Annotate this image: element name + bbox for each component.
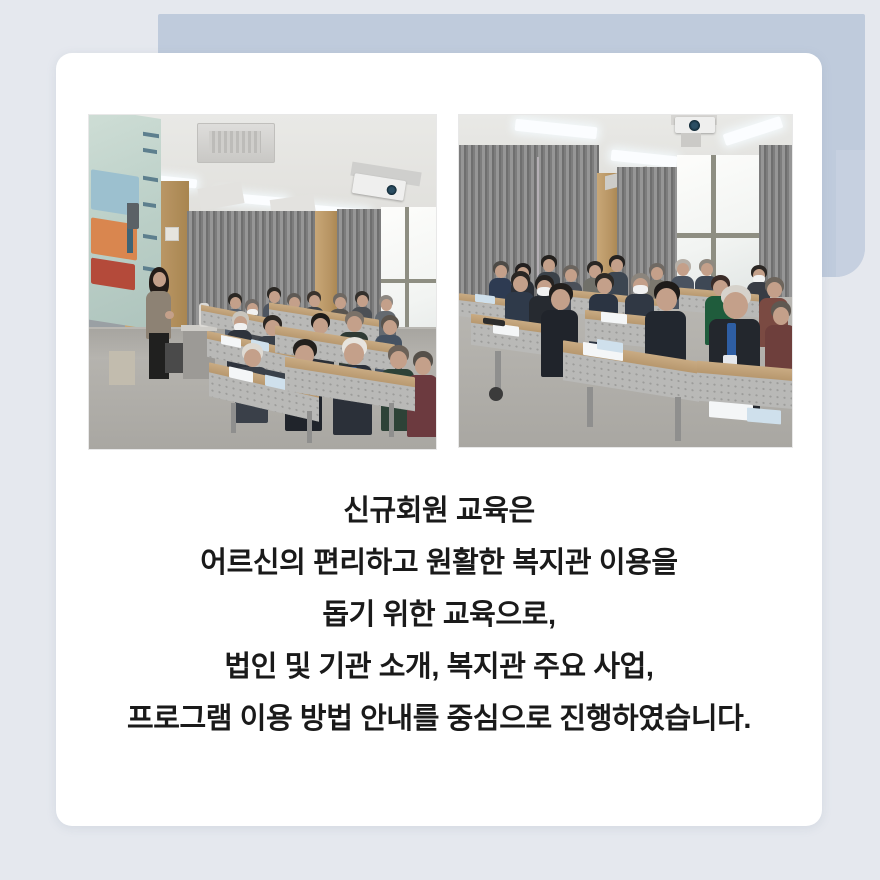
caption-line-3: 돕기 위한 교육으로, <box>56 589 822 641</box>
photo-left[interactable] <box>88 114 437 450</box>
poster-canvas: 신규회원 교육은 어르신의 편리하고 원활한 복지관 이용을 돕기 위한 교육으… <box>0 0 880 880</box>
caption-line-2: 어르신의 편리하고 원활한 복지관 이용을 <box>56 537 822 589</box>
caption-block: 신규회원 교육은 어르신의 편리하고 원활한 복지관 이용을 돕기 위한 교육으… <box>56 485 822 745</box>
blue-accent-plate-shadow <box>836 150 865 277</box>
content-card: 신규회원 교육은 어르신의 편리하고 원활한 복지관 이용을 돕기 위한 교육으… <box>56 53 822 826</box>
caption-line-5: 프로그램 이용 방법 안내를 중심으로 진행하였습니다. <box>56 693 822 745</box>
caption-line-1: 신규회원 교육은 <box>56 485 822 537</box>
photo-gallery <box>88 114 793 450</box>
photo-right[interactable] <box>458 114 793 448</box>
caption-line-4: 법인 및 기관 소개, 복지관 주요 사업, <box>56 641 822 693</box>
